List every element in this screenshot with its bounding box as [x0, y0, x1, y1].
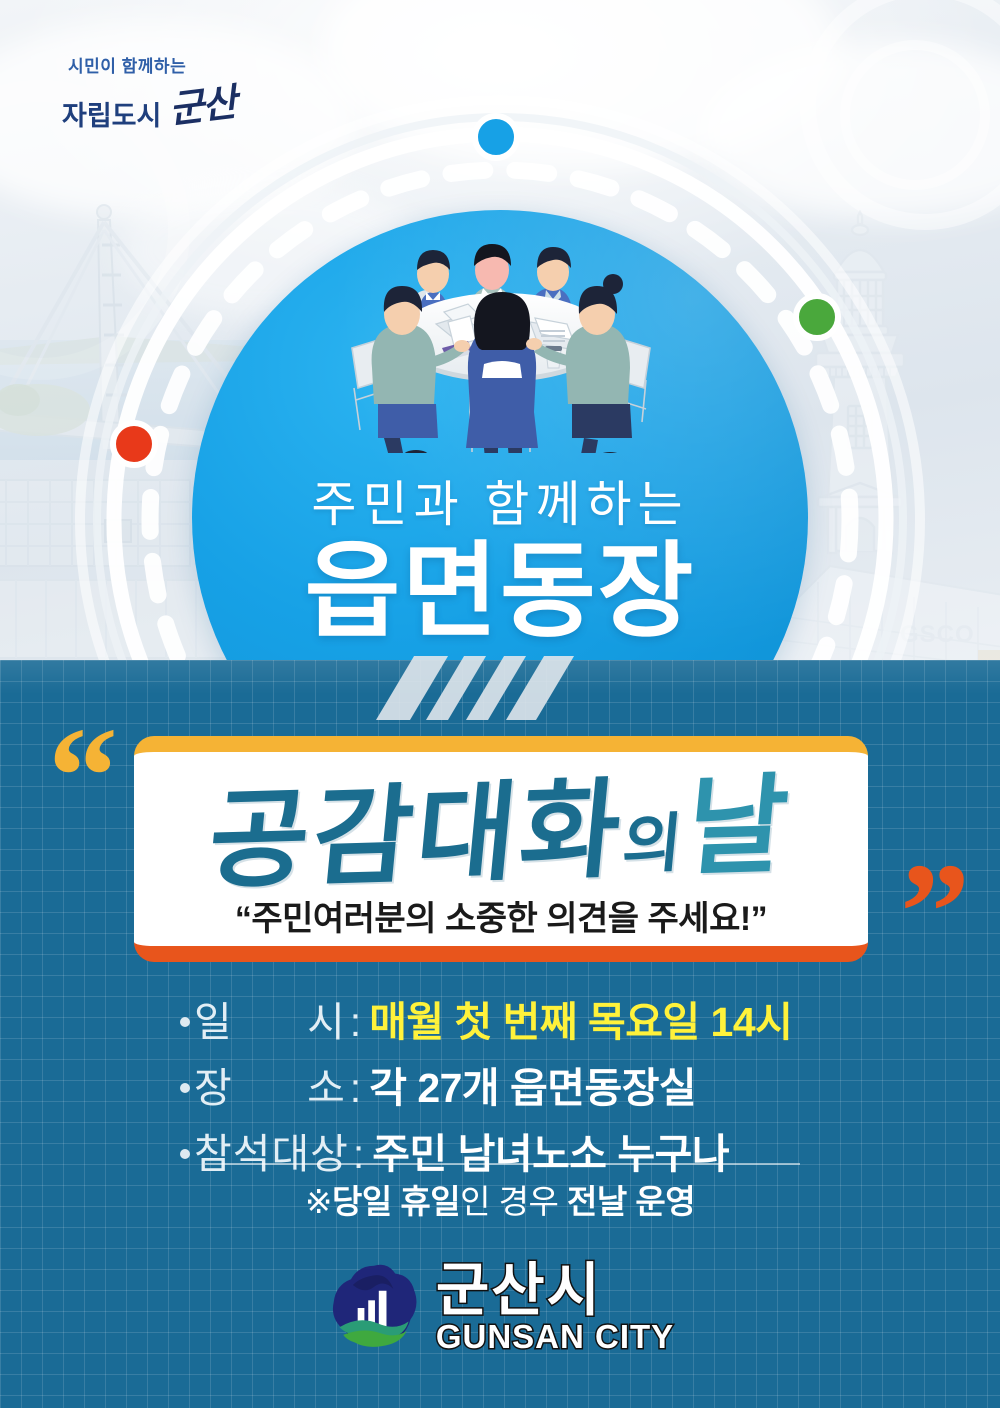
calligraphy-tail: 날 — [681, 763, 797, 891]
quote-close-mark: ” — [900, 870, 970, 957]
decor-dot-red — [110, 420, 158, 468]
gunsan-city-footer-logo: 군산시 GUNSAN CITY — [0, 1253, 1000, 1363]
info-label: 장 소 — [194, 1054, 346, 1114]
diagonal-streak-ornament — [120, 656, 680, 726]
info-row: 참석대상 : 주민 남녀노소 누구나 — [180, 1120, 820, 1180]
info-label: 참석대상 — [194, 1120, 349, 1180]
info-label: 일 시 — [194, 988, 346, 1048]
info-value: 각 27개 읍면동장실 — [369, 1054, 696, 1114]
footnote: ※당일 휴일인 경우 전날 운영 — [0, 1175, 1000, 1223]
hero-title: 읍면동장 — [0, 537, 1000, 647]
event-info-list: 일 시 : 매월 첫 번째 목요일 14시 장 소 : 각 27개 읍면동장실 … — [0, 988, 1000, 1186]
bullet-icon — [180, 1083, 190, 1093]
bullet-icon — [180, 1017, 190, 1027]
round-table-meeting-illustration — [332, 218, 672, 453]
slogan-line-2: 자립도시 — [62, 94, 161, 133]
info-row: 일 시 : 매월 첫 번째 목요일 14시 — [180, 988, 820, 1048]
info-value: 주민 남녀노소 누구나 — [372, 1120, 729, 1180]
calligraphy-particle: 의 — [619, 807, 689, 883]
decor-dot-blue — [472, 113, 520, 161]
slogan-brush-wordmark: 군산 — [166, 71, 238, 134]
info-colon: : — [353, 1131, 364, 1178]
footnote-mark: ※ — [305, 1183, 332, 1220]
calligraphy-main: 공감대화 — [203, 768, 630, 904]
footnote-bold-1: 당일 휴일 — [332, 1183, 460, 1220]
city-slogan-logo: 시민이 함께하는 자립도시 군산 — [62, 52, 235, 133]
info-row: 장 소 : 각 27개 읍면동장실 — [180, 1054, 820, 1114]
section-divider — [205, 1163, 800, 1165]
info-colon: : — [350, 1065, 361, 1112]
hero-sky-section: GSCO — [0, 0, 1000, 690]
gunsan-city-emblem-icon — [326, 1260, 422, 1356]
person-front-center — [466, 292, 538, 453]
hero-subtitle: 주민과 함께하는 — [0, 480, 1000, 531]
poster-root: GSCO — [0, 0, 1000, 1408]
bullet-icon — [180, 1149, 190, 1159]
footnote-bold-2: 전날 운영 — [567, 1183, 695, 1220]
quote-card: 공감대화의날 “주민여러분의 소중한 의견을 주세요!” — [134, 736, 868, 962]
footer-logo-text: 군산시 GUNSAN CITY — [436, 1263, 674, 1353]
calligraphy-title: 공감대화의날 — [125, 736, 876, 912]
footer-logo-korean: 군산시 — [436, 1263, 602, 1318]
info-value: 매월 첫 번째 목요일 14시 — [369, 988, 792, 1048]
quote-open-mark: “ — [48, 734, 118, 821]
quote-card-zone: “ ” 공감대화의날 “주민여러분의 소중한 의견을 주세요!” — [0, 720, 1000, 970]
info-colon: : — [350, 999, 361, 1046]
hero-title-block: 주민과 함께하는 읍면동장 — [0, 480, 1000, 648]
decor-dot-green — [793, 293, 841, 341]
quote-card-subtitle: “주민여러분의 소중한 의견을 주세요!” — [134, 891, 868, 940]
footer-logo-english: GUNSAN CITY — [436, 1320, 674, 1353]
footnote-thin-1: 인 경우 — [460, 1183, 567, 1220]
